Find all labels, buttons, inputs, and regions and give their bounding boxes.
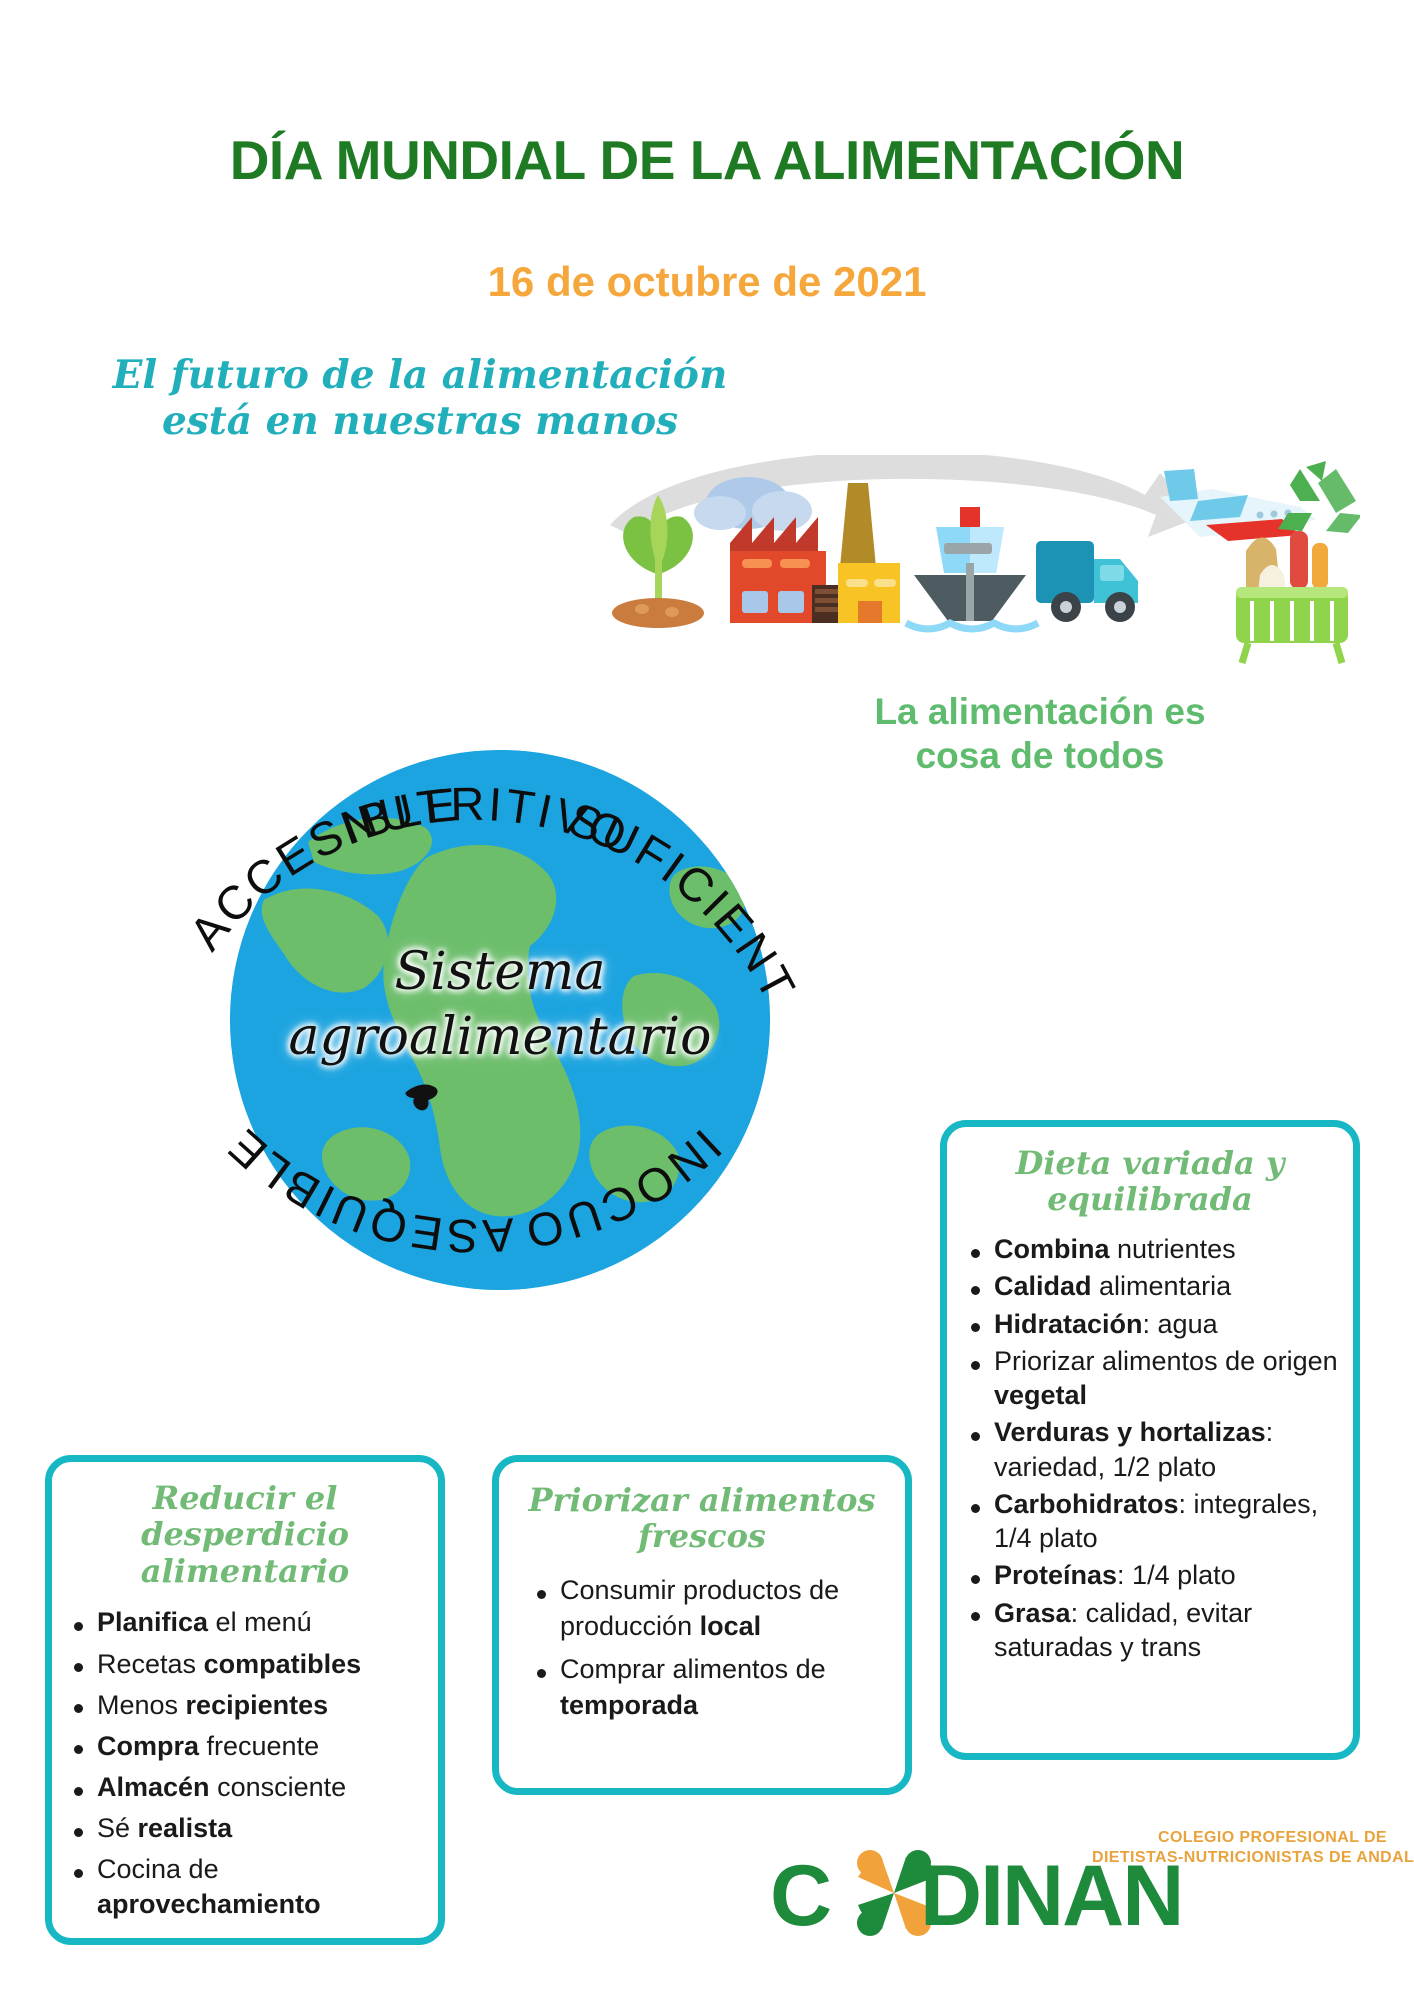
list-item: Sé realista xyxy=(66,1811,428,1846)
list-item-strong: Verduras y hortalizas xyxy=(994,1417,1266,1447)
page-title: DÍA MUNDIAL DE LA ALIMENTACIÓN xyxy=(0,128,1414,192)
list-item: Combina nutrientes xyxy=(963,1232,1341,1266)
list-item-strong: Compra xyxy=(97,1731,199,1761)
logo-tagline-line-2: DIETISTAS-NUTRICIONISTAS DE ANDALUCÍA xyxy=(1092,1849,1414,1867)
list-item: Grasa: calidad, evitar saturadas y trans xyxy=(963,1596,1341,1665)
list-item: Consumir productos de producción local xyxy=(529,1573,889,1644)
everyone-message: La alimentación es cosa de todos xyxy=(790,690,1290,779)
list-item-strong: aprovechamiento xyxy=(97,1889,321,1919)
everyone-line-1: La alimentación es xyxy=(790,690,1290,734)
list-item-strong: Planifica xyxy=(97,1607,208,1637)
list-item: Verduras y hortalizas: variedad, 1/2 pla… xyxy=(963,1415,1341,1484)
list-item: Priorizar alimentos de origen vegetal xyxy=(963,1344,1341,1413)
list-item-strong: Carbohidratos xyxy=(994,1489,1179,1519)
card-priorizar-frescos: Priorizar alimentos frescos Consumir pro… xyxy=(492,1455,912,1795)
tagline-line-2: está en nuestras manos xyxy=(60,398,780,444)
card-bullet-list: Combina nutrientesCalidad alimentariaHid… xyxy=(947,1232,1353,1664)
list-item-strong: Calidad xyxy=(994,1271,1092,1301)
ring-labels: ACCESIBLE NUTRITIVO SUFICIENTE INOCUO AS… xyxy=(100,640,850,1400)
event-date: 16 de octubre de 2021 xyxy=(0,258,1414,306)
list-item-strong: recipientes xyxy=(186,1690,329,1720)
logo-letter-c: C xyxy=(770,1847,832,1946)
list-item: Planifica el menú xyxy=(66,1605,428,1640)
card-title-line-2: equilibrada xyxy=(973,1181,1327,1217)
list-item-strong: Almacén xyxy=(97,1772,210,1802)
card-title-line-2: alimentario xyxy=(64,1553,426,1589)
card-bullet-list: Planifica el menúRecetas compatiblesMeno… xyxy=(52,1605,438,1922)
list-item-strong: Proteínas xyxy=(994,1560,1117,1590)
infographic-page: DÍA MUNDIAL DE LA ALIMENTACIÓN 16 de oct… xyxy=(0,0,1414,2000)
card-dieta-variada: Dieta variada y equilibrada Combina nutr… xyxy=(940,1120,1360,1760)
list-item: Calidad alimentaria xyxy=(963,1269,1341,1303)
agrifood-system-diagram: Sistema agroalimentario ACCESIBLE NUTRIT… xyxy=(100,640,850,1400)
card-title: Priorizar alimentos frescos xyxy=(499,1462,905,1559)
tagline-line-1: El futuro de la alimentación xyxy=(60,352,780,398)
ring-label-inocuo: INOCUO xyxy=(519,1120,732,1260)
list-item: Cocina de aprovechamiento xyxy=(66,1852,428,1922)
recycle-icon xyxy=(1278,461,1360,533)
list-item: Compra frecuente xyxy=(66,1729,428,1764)
card-title: Reducir el desperdicio alimentario xyxy=(52,1462,438,1593)
card-title-line-1: Reducir el desperdicio xyxy=(64,1480,426,1553)
card-title-line-1: Priorizar alimentos xyxy=(519,1482,885,1518)
list-item: Comprar alimentos de temporada xyxy=(529,1652,889,1723)
codinan-logo: C DINAN COLEGIO PROFESIONAL DE DIETISTAS… xyxy=(770,1825,1370,1965)
grocery-basket-icon xyxy=(1236,531,1348,663)
card-title-line-2: frescos xyxy=(519,1518,885,1554)
list-item: Hidratación: agua xyxy=(963,1307,1341,1341)
tagline: El futuro de la alimentación está en nue… xyxy=(60,352,780,444)
card-title-line-1: Dieta variada y xyxy=(973,1145,1327,1181)
card-bullet-list: Consumir productos de producción localCo… xyxy=(499,1573,905,1724)
card-title: Dieta variada y equilibrada xyxy=(947,1127,1353,1222)
logo-tagline-line-1: COLEGIO PROFESIONAL DE xyxy=(1158,1829,1387,1847)
list-item: Carbohidratos: integrales, 1/4 plato xyxy=(963,1487,1341,1556)
flow-arrow-icon xyxy=(610,455,1200,537)
list-item: Menos recipientes xyxy=(66,1688,428,1723)
truck-icon xyxy=(1036,541,1138,622)
list-item-strong: local xyxy=(700,1611,762,1641)
list-item: Proteínas: 1/4 plato xyxy=(963,1558,1341,1592)
list-item-strong: compatibles xyxy=(204,1649,362,1679)
list-item-strong: temporada xyxy=(560,1690,698,1720)
list-item: Recetas compatibles xyxy=(66,1647,428,1682)
list-item: Almacén consciente xyxy=(66,1770,428,1805)
ship-icon xyxy=(906,507,1038,629)
ring-label-asequible: ASEQUIBLE xyxy=(216,1118,516,1264)
card-reducir-desperdicio: Reducir el desperdicio alimentario Plani… xyxy=(45,1455,445,1945)
list-item-strong: Hidratación xyxy=(994,1309,1143,1339)
list-item-strong: realista xyxy=(138,1813,233,1843)
list-item-strong: vegetal xyxy=(994,1380,1087,1410)
list-item-strong: Grasa xyxy=(994,1598,1071,1628)
everyone-line-2: cosa de todos xyxy=(790,734,1290,778)
list-item-strong: Combina xyxy=(994,1234,1110,1264)
